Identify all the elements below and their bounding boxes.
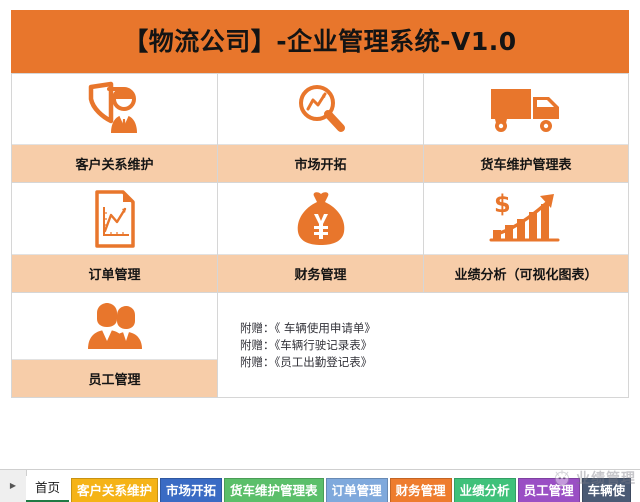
- card-row: 订单管理: [11, 183, 629, 293]
- card-label-band: 业绩分析（可视化图表）: [424, 254, 628, 292]
- card-customer-relations[interactable]: 客户关系维护: [11, 73, 218, 183]
- card-label-band: 客户关系维护: [12, 144, 217, 182]
- svg-text:$: $: [494, 190, 511, 218]
- appendix-note-block: 附赠：《 车辆使用申请单》 附赠：《车辆行驶记录表》 附赠：《员工出勤登记表》: [218, 293, 629, 398]
- card-row: 员工管理 附赠：《 车辆使用申请单》 附赠：《车辆行驶记录表》 附赠：《员工出勤…: [11, 293, 629, 398]
- shield-person-icon: [83, 81, 147, 139]
- card-label-band: 订单管理: [12, 254, 217, 292]
- appendix-line: 附赠：《员工出勤登记表》: [240, 354, 628, 371]
- sheet-nav-arrows[interactable]: ▶: [0, 470, 27, 502]
- card-market-development[interactable]: 市场开拓: [218, 73, 424, 183]
- card-label-band: 市场开拓: [218, 144, 423, 182]
- card-performance-analysis[interactable]: $: [424, 183, 629, 293]
- sheet-tabs: 首页 客户关系维护 市场开拓 货车维护管理表 订单管理 财务管理 业绩分析 员工…: [26, 470, 633, 502]
- sheet-tab-staff-management[interactable]: 员工管理: [518, 478, 580, 502]
- sheet-tab-order-management[interactable]: 订单管理: [326, 478, 388, 502]
- sheet-tab-home[interactable]: 首页: [26, 476, 69, 502]
- bar-chart-growth-icon: $: [488, 190, 564, 248]
- appendix-line: 附赠：《车辆行驶记录表》: [240, 337, 628, 354]
- card-truck-maintenance[interactable]: 货车维护管理表: [424, 73, 629, 183]
- truck-icon: [489, 85, 563, 135]
- card-label: 货车维护管理表: [480, 154, 571, 173]
- card-label-band: 财务管理: [218, 254, 423, 292]
- card-label: 市场开拓: [294, 154, 346, 173]
- sheet-tab-vehicle-use[interactable]: 车辆使: [582, 478, 632, 502]
- card-label: 员工管理: [88, 369, 140, 388]
- sheet-tab-market-development[interactable]: 市场开拓: [160, 478, 222, 502]
- card-finance-management[interactable]: 财务管理: [218, 183, 424, 293]
- card-label-band: 员工管理: [12, 359, 217, 397]
- next-sheet-arrow-icon[interactable]: ▶: [10, 482, 16, 490]
- card-icon-area: [12, 183, 217, 255]
- card-icon-area: [424, 74, 628, 146]
- card-icon-area: [12, 74, 217, 146]
- card-icon-area: [12, 293, 217, 360]
- worksheet-canvas: 【物流公司】-企业管理系统-V1.0: [0, 0, 640, 470]
- card-order-management[interactable]: 订单管理: [11, 183, 218, 293]
- card-label: 客户关系维护: [75, 154, 153, 173]
- module-card-grid: 客户关系维护 市场开拓: [11, 73, 629, 402]
- sheet-tab-performance-analysis[interactable]: 业绩分析: [454, 478, 516, 502]
- appendix-line: 附赠：《 车辆使用申请单》: [240, 320, 628, 337]
- page-title: 【物流公司】-企业管理系统-V1.0: [123, 29, 516, 54]
- dashboard-board: 【物流公司】-企业管理系统-V1.0: [11, 10, 629, 402]
- dashboard-title-banner: 【物流公司】-企业管理系统-V1.0: [11, 10, 629, 73]
- sheet-tab-finance-management[interactable]: 财务管理: [390, 478, 452, 502]
- card-icon-area: $: [424, 183, 628, 255]
- sheet-tab-strip: ▶ 首页 客户关系维护 市场开拓 货车维护管理表 订单管理 财务管理 业绩分析 …: [0, 469, 640, 502]
- card-icon-area: [218, 74, 423, 146]
- magnifier-chart-icon: [293, 81, 349, 139]
- money-bag-yen-icon: [292, 190, 350, 248]
- document-chart-icon: [91, 189, 139, 249]
- card-row: 客户关系维护 市场开拓: [11, 73, 629, 183]
- card-icon-area: [218, 183, 423, 255]
- card-label: 业绩分析（可视化图表）: [454, 264, 597, 283]
- two-people-icon: [84, 301, 146, 353]
- sheet-tab-customer-relations[interactable]: 客户关系维护: [71, 478, 158, 502]
- card-label: 财务管理: [294, 264, 346, 283]
- excel-dashboard-window: 【物流公司】-企业管理系统-V1.0: [0, 0, 640, 502]
- card-label: 订单管理: [88, 264, 140, 283]
- card-label-band: 货车维护管理表: [424, 144, 628, 182]
- card-staff-management[interactable]: 员工管理: [11, 293, 218, 398]
- sheet-tab-truck-maintenance[interactable]: 货车维护管理表: [224, 478, 324, 502]
